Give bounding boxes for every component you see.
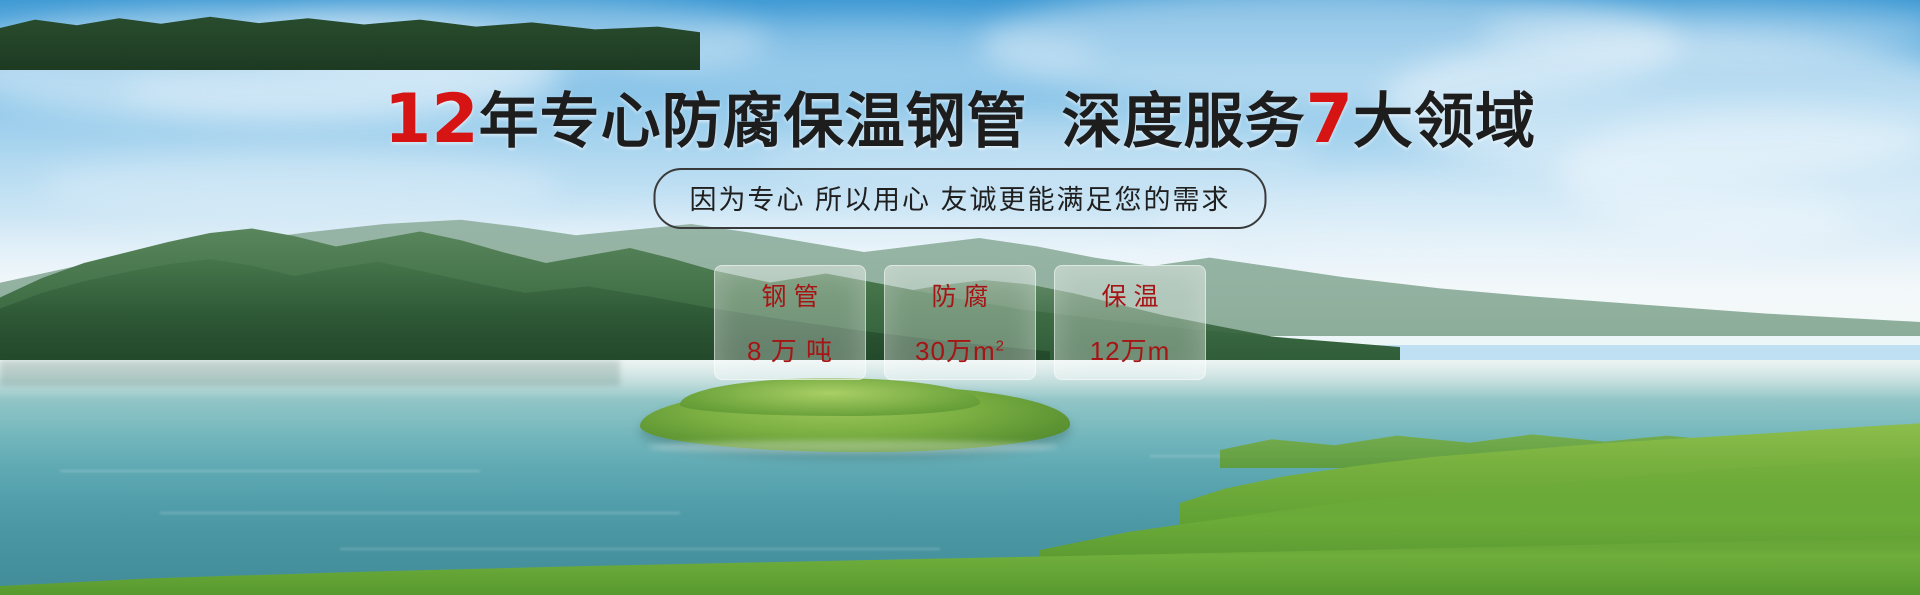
headline-text-part1: 年专心防腐保温钢管 <box>479 88 1028 155</box>
shore-reflection <box>0 360 620 386</box>
headline-text-part2: 深度服务 <box>1062 88 1306 155</box>
cloud-wisp <box>40 150 560 220</box>
stat-card-insulation: 保温 12万m <box>1054 265 1206 380</box>
stat-card-value-text: 12万m <box>1090 336 1171 366</box>
stat-card-label: 钢管 <box>754 277 825 313</box>
banner-subtitle-pill: 因为专心 所以用心 友诚更能满足您的需求 <box>653 168 1266 229</box>
stat-card-anticorrosion: 防腐 30万m2 <box>884 265 1036 380</box>
banner-subtitle-text: 因为专心 所以用心 友诚更能满足您的需求 <box>689 185 1230 215</box>
island-shoreline <box>648 440 1058 454</box>
water-streak <box>160 512 680 514</box>
cloud-wisp <box>1480 0 1920 60</box>
stat-card-value: 8 万 吨 <box>747 331 833 368</box>
banner-headline: 12年专心防腐保温钢管深度服务7大领域 <box>0 86 1920 154</box>
stat-card-value: 30万m2 <box>915 331 1005 368</box>
water-streak <box>340 548 940 550</box>
hero-banner: 12年专心防腐保温钢管深度服务7大领域 因为专心 所以用心 友诚更能满足您的需求… <box>0 0 1920 595</box>
stat-card-value-text: 30万m <box>915 336 996 366</box>
stat-card-steel-pipe: 钢管 8 万 吨 <box>714 265 866 380</box>
stat-card-value-superscript: 2 <box>996 337 1005 354</box>
stat-card-value-text: 8 万 吨 <box>747 336 833 366</box>
stat-card-value: 12万m <box>1090 331 1171 368</box>
stat-card-label: 防腐 <box>924 277 995 313</box>
stat-card-group: 钢管 8 万 吨 防腐 30万m2 保温 12万m <box>714 265 1206 380</box>
water-streak <box>60 470 480 472</box>
headline-years-number: 12 <box>384 80 479 159</box>
headline-fields-number: 7 <box>1306 80 1353 159</box>
headline-text-part3: 大领域 <box>1353 88 1536 155</box>
stat-card-label: 保温 <box>1094 277 1165 313</box>
